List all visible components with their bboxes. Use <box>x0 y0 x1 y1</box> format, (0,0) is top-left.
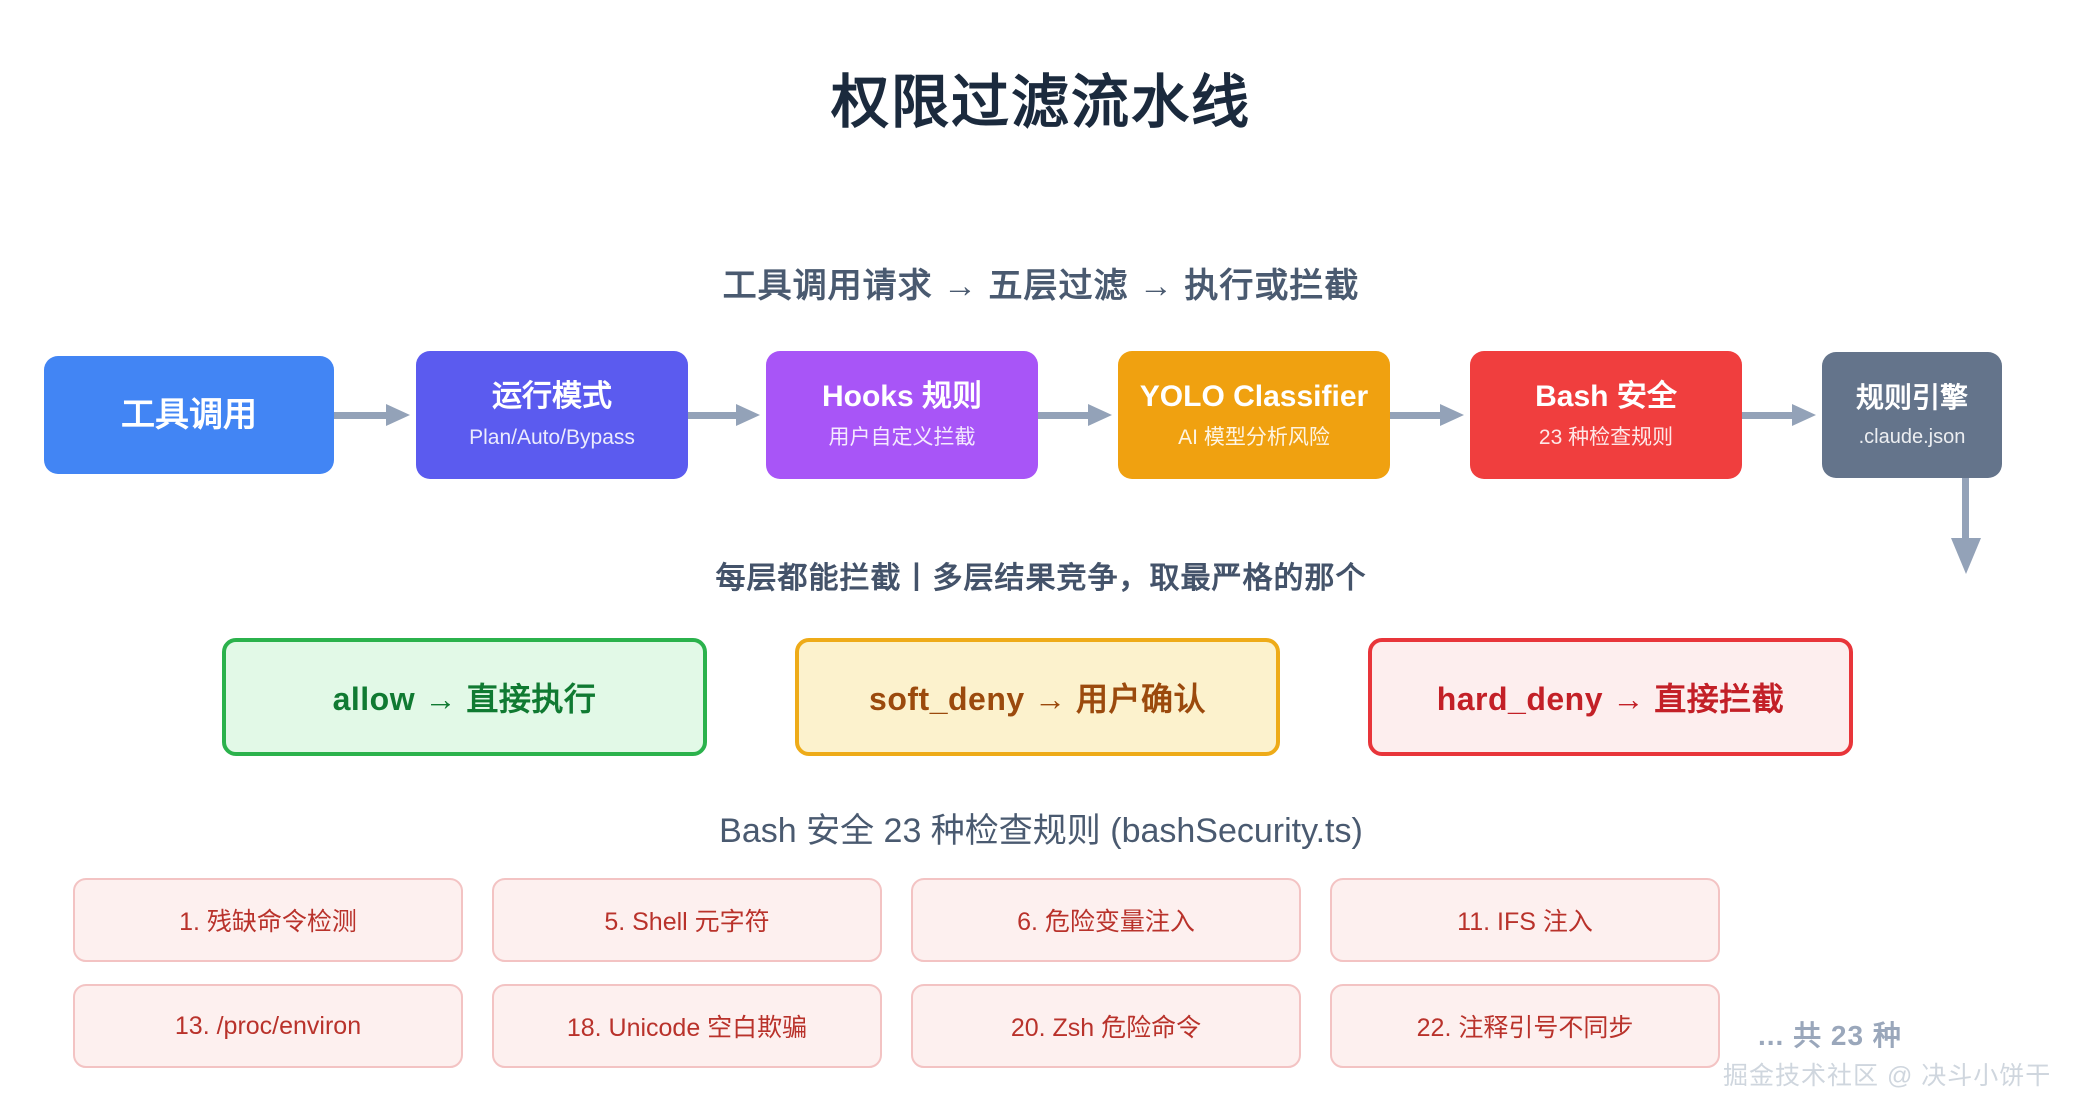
stage-title: YOLO Classifier <box>1140 379 1368 415</box>
outcome-chip-label: soft_deny → 用户确认 <box>869 674 1206 720</box>
mid-caption: 每层都能拦截丨多层结果竞争，取最严格的那个 <box>0 553 2082 597</box>
stage-title: 规则引擎 <box>1856 381 1968 415</box>
rule-chip[interactable]: 18. Unicode 空白欺骗 <box>492 984 882 1068</box>
flow-subtitle: 工具调用请求 → 五层过滤 → 执行或拦截 <box>0 258 2082 307</box>
flow-arrow-icon <box>1038 404 1118 426</box>
flow-arrow-icon <box>334 404 416 426</box>
rule-chip[interactable]: 22. 注释引号不同步 <box>1330 984 1720 1068</box>
rule-chip-label: 11. IFS 注入 <box>1457 902 1593 938</box>
page-title: 权限过滤流水线 <box>0 55 2082 139</box>
rules-chip-grid: 1. 残缺命令检测 5. Shell 元字符 6. 危险变量注入 11. IFS… <box>73 878 1733 1068</box>
pipeline-stage-bash-security[interactable]: Bash 安全 23 种检查规则 <box>1470 351 1742 479</box>
rule-chip-label: 6. 危险变量注入 <box>1017 902 1195 938</box>
stage-title: Bash 安全 <box>1535 379 1677 415</box>
outcome-chip-label: hard_deny → 直接拦截 <box>1437 674 1785 720</box>
pipeline-stage-tool-call[interactable]: 工具调用 <box>44 356 334 474</box>
rule-chip-label: 1. 残缺命令检测 <box>179 902 357 938</box>
stage-subtitle: .claude.json <box>1859 425 1966 449</box>
outcome-chip-label: allow → 直接执行 <box>333 674 597 720</box>
outcome-chip-allow[interactable]: allow → 直接执行 <box>222 638 707 756</box>
rule-chip-label: 22. 注释引号不同步 <box>1417 1008 1634 1044</box>
rule-chip[interactable]: 20. Zsh 危险命令 <box>911 984 1301 1068</box>
rule-chip-label: 18. Unicode 空白欺骗 <box>567 1008 807 1044</box>
pipeline-stage-run-mode[interactable]: 运行模式 Plan/Auto/Bypass <box>416 351 688 479</box>
stage-subtitle: AI 模型分析风险 <box>1178 425 1330 450</box>
stage-title: 运行模式 <box>492 379 612 415</box>
pipeline-stage-rule-engine[interactable]: 规则引擎 .claude.json <box>1822 352 2002 478</box>
stage-subtitle: Plan/Auto/Bypass <box>469 425 635 450</box>
rule-chip-label: 5. Shell 元字符 <box>604 902 769 938</box>
stage-title: Hooks 规则 <box>822 379 982 415</box>
rule-chip[interactable]: 13. /proc/environ <box>73 984 463 1068</box>
watermark: 掘金技术社区 @ 决斗小饼干 <box>1723 1056 2063 1092</box>
flow-arrow-icon <box>1390 404 1470 426</box>
rules-section-heading: Bash 安全 23 种检查规则 (bashSecurity.ts) <box>0 803 2082 852</box>
rules-more-note: ... 共 23 种 <box>1758 1014 2058 1054</box>
stage-subtitle: 用户自定义拦截 <box>829 425 976 450</box>
outcome-chip-soft-deny[interactable]: soft_deny → 用户确认 <box>795 638 1280 756</box>
rule-chip-label: 20. Zsh 危险命令 <box>1011 1008 1201 1044</box>
outcome-chip-hard-deny[interactable]: hard_deny → 直接拦截 <box>1368 638 1853 756</box>
rule-chip[interactable]: 6. 危险变量注入 <box>911 878 1301 962</box>
rule-chip-label: 13. /proc/environ <box>175 1012 361 1041</box>
outcome-chip-group: allow → 直接执行 soft_deny → 用户确认 hard_deny … <box>0 638 2082 756</box>
stage-title: 工具调用 <box>121 395 257 436</box>
rule-chip[interactable]: 5. Shell 元字符 <box>492 878 882 962</box>
pipeline-stage-hooks[interactable]: Hooks 规则 用户自定义拦截 <box>766 351 1038 479</box>
flow-arrow-icon <box>688 404 766 426</box>
rule-chip[interactable]: 1. 残缺命令检测 <box>73 878 463 962</box>
flow-arrow-icon <box>1742 404 1822 426</box>
stage-subtitle: 23 种检查规则 <box>1539 425 1673 450</box>
pipeline-stage-yolo-classifier[interactable]: YOLO Classifier AI 模型分析风险 <box>1118 351 1390 479</box>
rule-chip[interactable]: 11. IFS 注入 <box>1330 878 1720 962</box>
pipeline-flow: 工具调用 运行模式 Plan/Auto/Bypass Hooks 规则 用户自定… <box>0 345 2082 485</box>
